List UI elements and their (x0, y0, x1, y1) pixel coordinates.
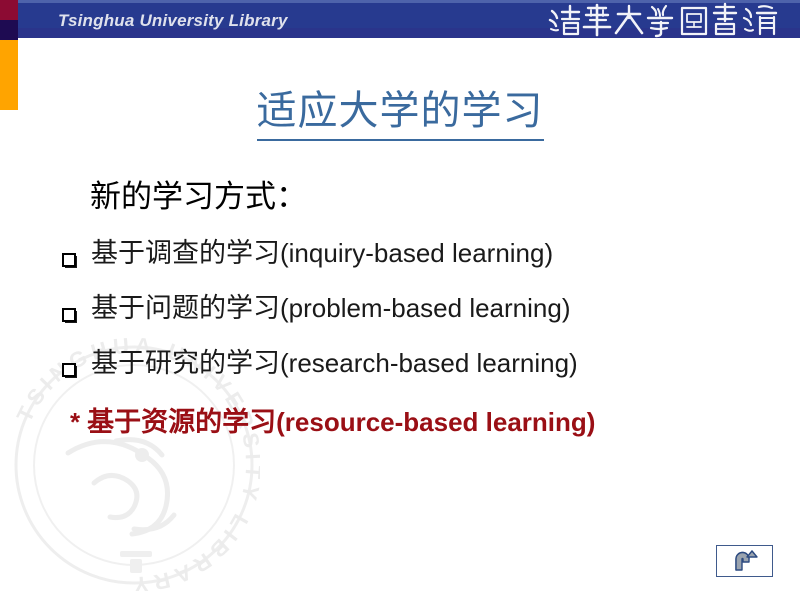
header-title: Tsinghua University Library (58, 11, 288, 31)
bullet-list: 基于调查的学习 (inquiry-based learning) 基于问题的学习… (0, 231, 800, 396)
list-item-label-en: (inquiry-based learning) (280, 238, 553, 269)
highlighted-label-en: (resource-based learning) (276, 407, 595, 438)
accent-block-red (0, 0, 18, 20)
list-item-label-en: (problem-based learning) (280, 293, 570, 324)
highlighted-label-cn: 基于资源的学习 (87, 400, 276, 439)
slide-canvas: Tsinghua University Library (0, 0, 800, 600)
square-bullet-icon (62, 253, 78, 267)
return-arrow-icon (730, 550, 760, 572)
asterisk-marker: * (70, 407, 80, 438)
accent-block-purple (0, 20, 18, 40)
page-title: 适应大学的学习 (0, 78, 800, 141)
list-item: 基于问题的学习 (problem-based learning) (62, 286, 800, 341)
return-button[interactable] (716, 545, 773, 577)
list-item-label-en: (research-based learning) (280, 348, 578, 379)
page-title-text: 适应大学的学习 (257, 78, 544, 141)
list-item: 基于研究的学习 (research-based learning) (62, 341, 800, 396)
tsinghua-calligraphy-logo (546, 0, 786, 38)
slide-body: 新的学习方式： 基于调查的学习 (inquiry-based learning)… (0, 175, 800, 439)
list-item-label-cn: 基于调查的学习 (91, 231, 280, 270)
subheading: 新的学习方式： (90, 175, 800, 219)
list-item: 基于调查的学习 (inquiry-based learning) (62, 231, 800, 286)
square-bullet-icon (62, 308, 78, 322)
square-bullet-icon (62, 363, 78, 377)
list-item-label-cn: 基于问题的学习 (91, 286, 280, 325)
highlighted-item: * 基于资源的学习 (resource-based learning) (70, 400, 800, 439)
list-item-label-cn: 基于研究的学习 (91, 341, 280, 380)
accent-bar-orange (0, 40, 18, 110)
